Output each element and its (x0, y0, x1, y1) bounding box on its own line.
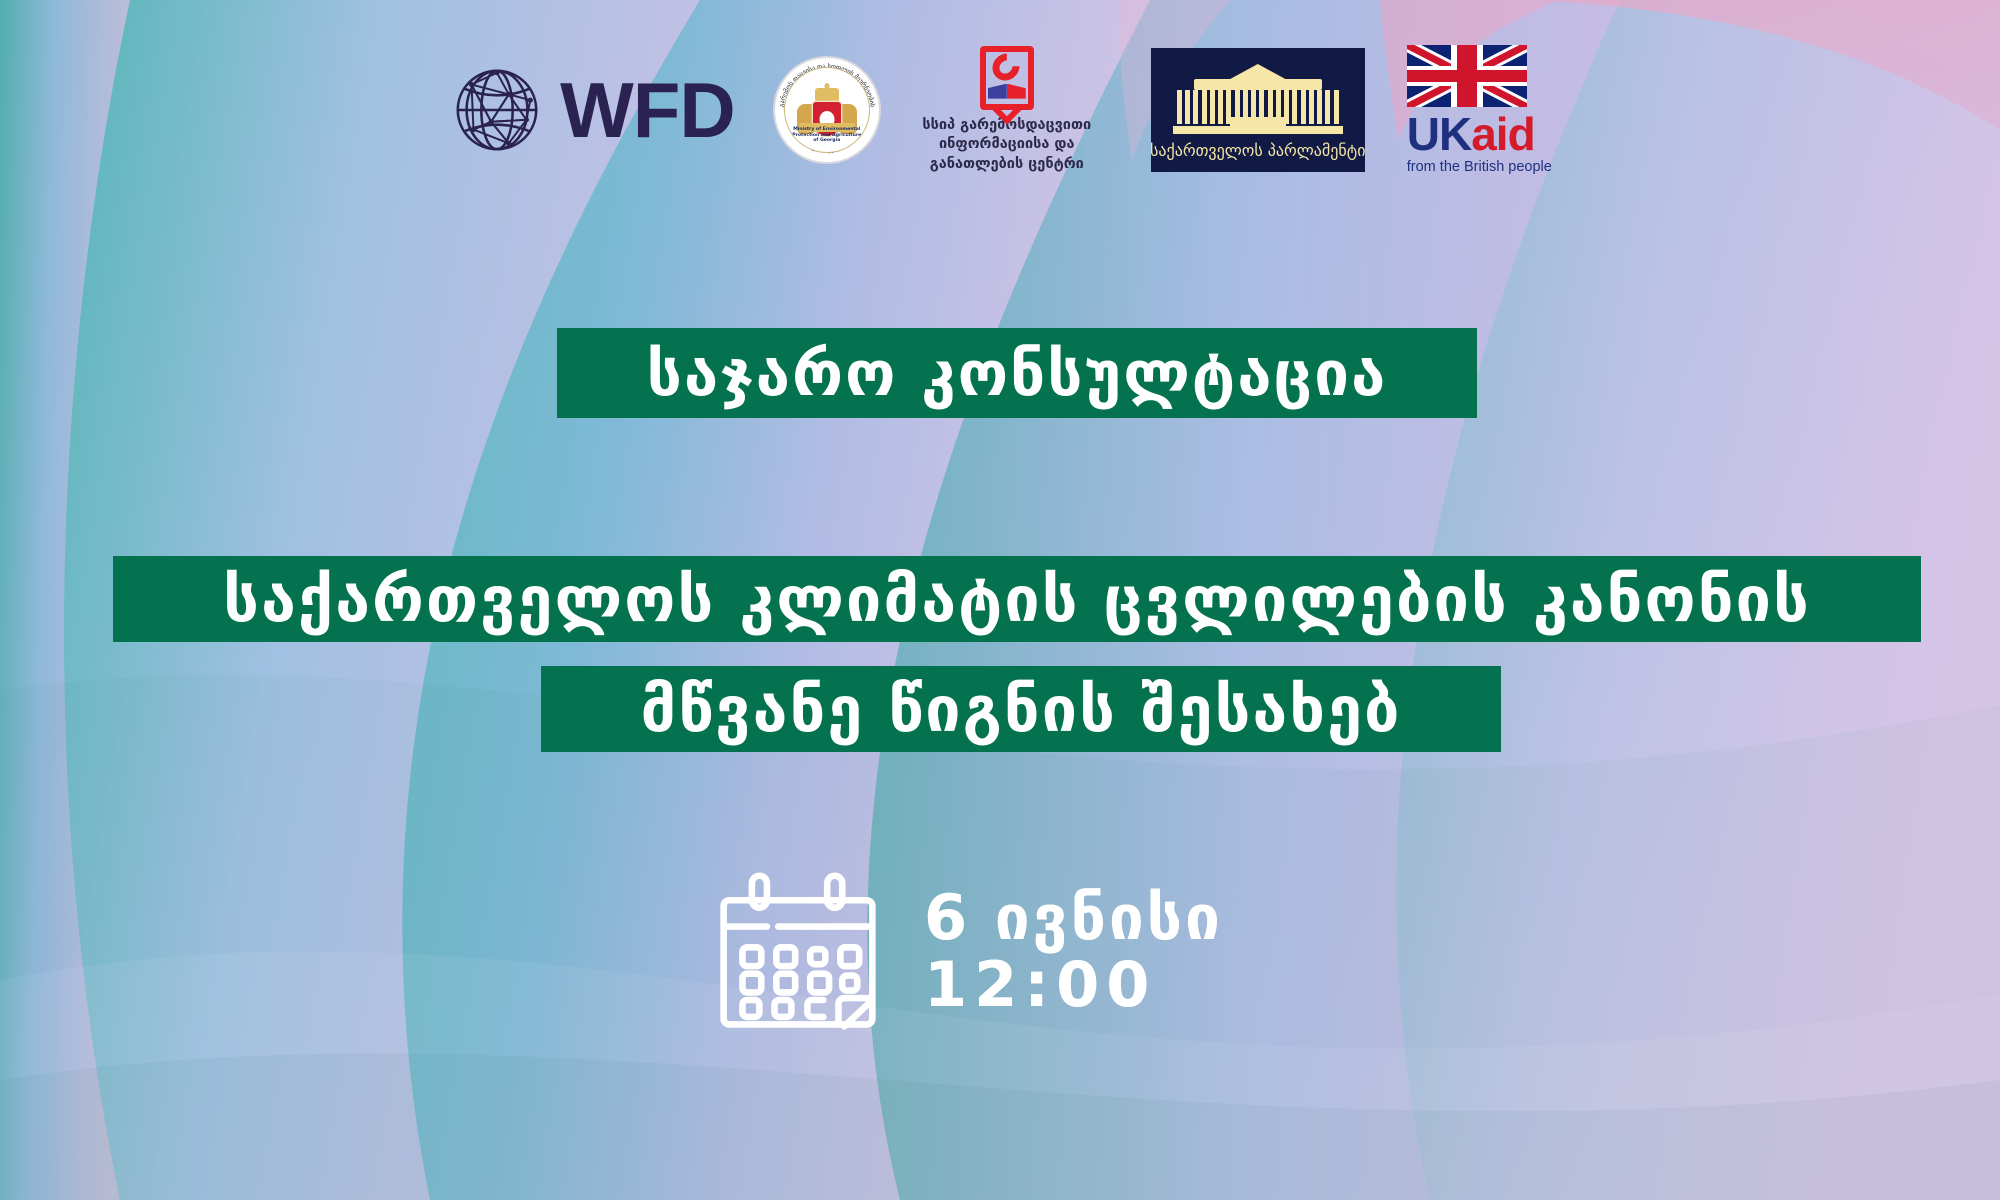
ukaid-uk-text: UK (1407, 108, 1471, 160)
crown-icon (815, 88, 839, 101)
env-center-shield-icon (980, 46, 1034, 110)
calendar-icon (718, 868, 878, 1036)
title-banner-line-2: მწვანე წიგნის შესახებ (541, 666, 1501, 752)
wfd-wordmark: WFD (560, 71, 735, 149)
event-datetime-text: 6 ივნისი 12:00 (924, 885, 1223, 1019)
event-time: 12:00 (924, 952, 1223, 1019)
ukaid-aid-text: aid (1471, 108, 1534, 160)
parliament-label: საქართველოს პარლამენტი (1150, 141, 1365, 160)
seal-english-text: Ministry of Environmental Protection and… (785, 127, 869, 144)
ukaid-logo: UKaid from the British people (1407, 45, 1552, 175)
event-datetime-block: 6 ივნისი 12:00 (718, 868, 1223, 1036)
globe-icon (448, 61, 546, 159)
ministry-seal-logo: გარემოს დაცვისა და სოფლის მეურნეობის საქ… (773, 56, 907, 164)
environmental-information-center-logo: სსიპ გარემოსდაცვითი ინფორმაციისა და განა… (907, 46, 1107, 175)
ukaid-wordmark: UKaid (1407, 111, 1535, 157)
wfd-logo: WFD (448, 61, 735, 159)
title-banner-line-1: საქართველოს კლიმატის ცვლილების კანონის (113, 556, 1921, 642)
seal-inner-disc: Ministry of Environmental Protection and… (784, 67, 870, 153)
event-date: 6 ივნისი (924, 885, 1223, 952)
parliament-of-georgia-logo: საქართველოს პარლამენტი (1151, 48, 1365, 172)
logo-bar: WFD გარემოს დაცვისა და სოფლის მეურნეობის… (0, 30, 2000, 190)
parliament-building-icon (1173, 60, 1343, 134)
ukaid-tagline: from the British people (1407, 159, 1552, 175)
event-type-banner: საჯარო კონსულტაცია (557, 328, 1477, 418)
union-jack-icon (1407, 45, 1527, 107)
